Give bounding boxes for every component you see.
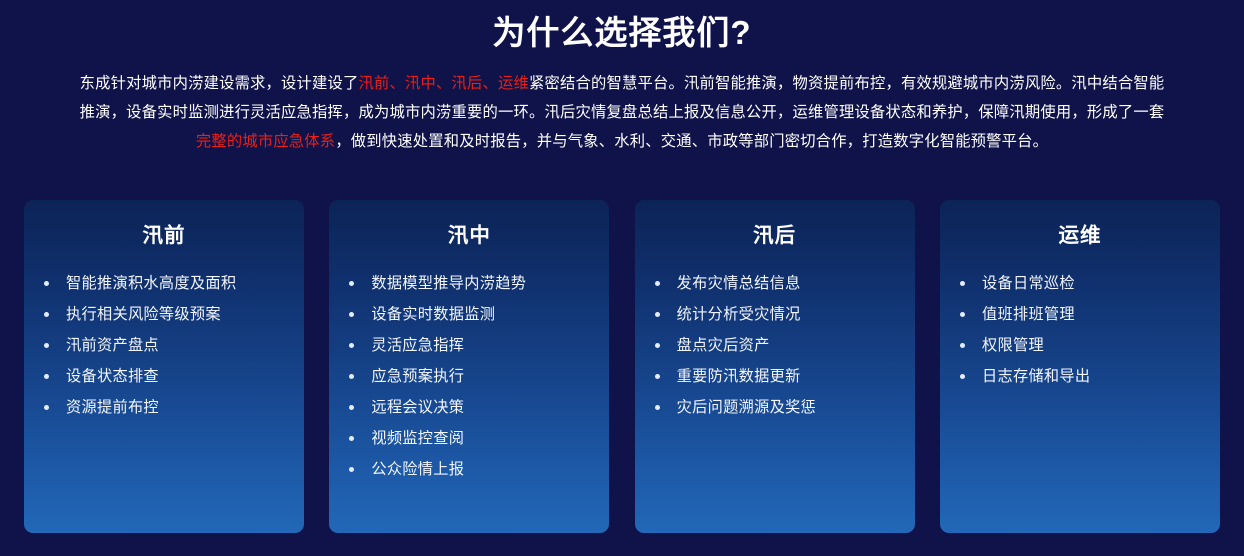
feature-card-operations[interactable]: 运维 设备日常巡检 值班排班管理 权限管理 日志存储和导出 bbox=[940, 200, 1220, 533]
list-item: 灾后问题溯源及奖惩 bbox=[655, 392, 901, 423]
list-item: 远程会议决策 bbox=[349, 392, 595, 423]
bullet-icon bbox=[960, 374, 965, 379]
list-item-label: 公众险情上报 bbox=[371, 459, 464, 480]
list-item-label: 设备日常巡检 bbox=[982, 273, 1075, 294]
list-item-label: 设备实时数据监测 bbox=[371, 304, 495, 325]
list-item-label: 数据模型推导内涝趋势 bbox=[371, 273, 526, 294]
intro-highlight-phases: 汛前、汛中、汛后、运维 bbox=[359, 75, 529, 92]
list-item-label: 权限管理 bbox=[982, 335, 1044, 356]
list-item: 值班排班管理 bbox=[960, 299, 1206, 330]
bullet-icon bbox=[349, 436, 354, 441]
bullet-icon bbox=[349, 467, 354, 472]
list-item: 设备日常巡检 bbox=[960, 268, 1206, 299]
list-item: 灵活应急指挥 bbox=[349, 330, 595, 361]
list-item: 智能推演积水高度及面积 bbox=[44, 268, 290, 299]
card-title: 汛前 bbox=[24, 223, 304, 250]
list-item: 重要防汛数据更新 bbox=[655, 361, 901, 392]
list-item-label: 智能推演积水高度及面积 bbox=[66, 273, 236, 294]
list-item-label: 日志存储和导出 bbox=[982, 366, 1090, 387]
bullet-icon bbox=[44, 374, 49, 379]
card-title: 运维 bbox=[940, 223, 1220, 250]
list-item: 日志存储和导出 bbox=[960, 361, 1206, 392]
list-item: 权限管理 bbox=[960, 330, 1206, 361]
bullet-icon bbox=[655, 405, 660, 410]
bullet-icon bbox=[44, 312, 49, 317]
why-choose-us-section: 为什么选择我们? 东成针对城市内涝建设需求，设计建设了汛前、汛中、汛后、运维紧密… bbox=[0, 0, 1244, 556]
list-item-label: 灵活应急指挥 bbox=[371, 335, 464, 356]
bullet-icon bbox=[655, 343, 660, 348]
bullet-icon bbox=[655, 312, 660, 317]
bullet-icon bbox=[44, 281, 49, 286]
list-item-label: 应急预案执行 bbox=[371, 366, 464, 387]
feature-card-during-flood[interactable]: 汛中 数据模型推导内涝趋势 设备实时数据监测 灵活应急指挥 应急预案执行 远程会… bbox=[329, 200, 609, 533]
card-title: 汛中 bbox=[329, 223, 609, 250]
list-item: 设备状态排查 bbox=[44, 361, 290, 392]
feature-card-pre-flood[interactable]: 汛前 智能推演积水高度及面积 执行相关风险等级预案 汛前资产盘点 设备状态排查 … bbox=[24, 200, 304, 533]
list-item-label: 汛前资产盘点 bbox=[66, 335, 159, 356]
list-item: 数据模型推导内涝趋势 bbox=[349, 268, 595, 299]
bullet-icon bbox=[44, 343, 49, 348]
list-item-label: 执行相关风险等级预案 bbox=[66, 304, 221, 325]
bullet-icon bbox=[349, 281, 354, 286]
card-item-list: 智能推演积水高度及面积 执行相关风险等级预案 汛前资产盘点 设备状态排查 资源提… bbox=[24, 268, 304, 423]
list-item: 视频监控查阅 bbox=[349, 423, 595, 454]
bullet-icon bbox=[349, 405, 354, 410]
card-item-list: 设备日常巡检 值班排班管理 权限管理 日志存储和导出 bbox=[940, 268, 1220, 392]
feature-card-post-flood[interactable]: 汛后 发布灾情总结信息 统计分析受灾情况 盘点灾后资产 重要防汛数据更新 灾后问… bbox=[635, 200, 915, 533]
list-item-label: 统计分析受灾情况 bbox=[677, 304, 801, 325]
list-item: 应急预案执行 bbox=[349, 361, 595, 392]
list-item-label: 值班排班管理 bbox=[982, 304, 1075, 325]
bullet-icon bbox=[960, 281, 965, 286]
bullet-icon bbox=[960, 312, 965, 317]
list-item-label: 远程会议决策 bbox=[371, 397, 464, 418]
intro-paragraph: 东成针对城市内涝建设需求，设计建设了汛前、汛中、汛后、运维紧密结合的智慧平台。汛… bbox=[72, 69, 1172, 156]
list-item-label: 灾后问题溯源及奖惩 bbox=[677, 397, 816, 418]
list-item: 执行相关风险等级预案 bbox=[44, 299, 290, 330]
intro-highlight-system: 完整的城市应急体系 bbox=[196, 133, 335, 150]
intro-text-part-1: 东成针对城市内涝建设需求，设计建设了 bbox=[80, 75, 359, 92]
list-item: 汛前资产盘点 bbox=[44, 330, 290, 361]
list-item-label: 盘点灾后资产 bbox=[677, 335, 770, 356]
list-item-label: 发布灾情总结信息 bbox=[677, 273, 801, 294]
bullet-icon bbox=[349, 312, 354, 317]
list-item: 发布灾情总结信息 bbox=[655, 268, 901, 299]
list-item-label: 视频监控查阅 bbox=[371, 428, 464, 449]
list-item: 设备实时数据监测 bbox=[349, 299, 595, 330]
list-item: 公众险情上报 bbox=[349, 454, 595, 485]
list-item-label: 设备状态排查 bbox=[66, 366, 159, 387]
feature-card-grid: 汛前 智能推演积水高度及面积 执行相关风险等级预案 汛前资产盘点 设备状态排查 … bbox=[24, 200, 1220, 533]
card-title: 汛后 bbox=[635, 223, 915, 250]
list-item: 盘点灾后资产 bbox=[655, 330, 901, 361]
list-item-label: 重要防汛数据更新 bbox=[677, 366, 801, 387]
card-item-list: 数据模型推导内涝趋势 设备实时数据监测 灵活应急指挥 应急预案执行 远程会议决策… bbox=[329, 268, 609, 485]
bullet-icon bbox=[655, 374, 660, 379]
intro-text-part-3: ，做到快速处置和及时报告，并与气象、水利、交通、市政等部门密切合作，打造数字化智… bbox=[335, 133, 1048, 150]
list-item-label: 资源提前布控 bbox=[66, 397, 159, 418]
bullet-icon bbox=[960, 343, 965, 348]
bullet-icon bbox=[349, 374, 354, 379]
card-item-list: 发布灾情总结信息 统计分析受灾情况 盘点灾后资产 重要防汛数据更新 灾后问题溯源… bbox=[635, 268, 915, 423]
bullet-icon bbox=[44, 405, 49, 410]
list-item: 统计分析受灾情况 bbox=[655, 299, 901, 330]
list-item: 资源提前布控 bbox=[44, 392, 290, 423]
bullet-icon bbox=[655, 281, 660, 286]
bullet-icon bbox=[349, 343, 354, 348]
page-title: 为什么选择我们? bbox=[0, 0, 1244, 56]
